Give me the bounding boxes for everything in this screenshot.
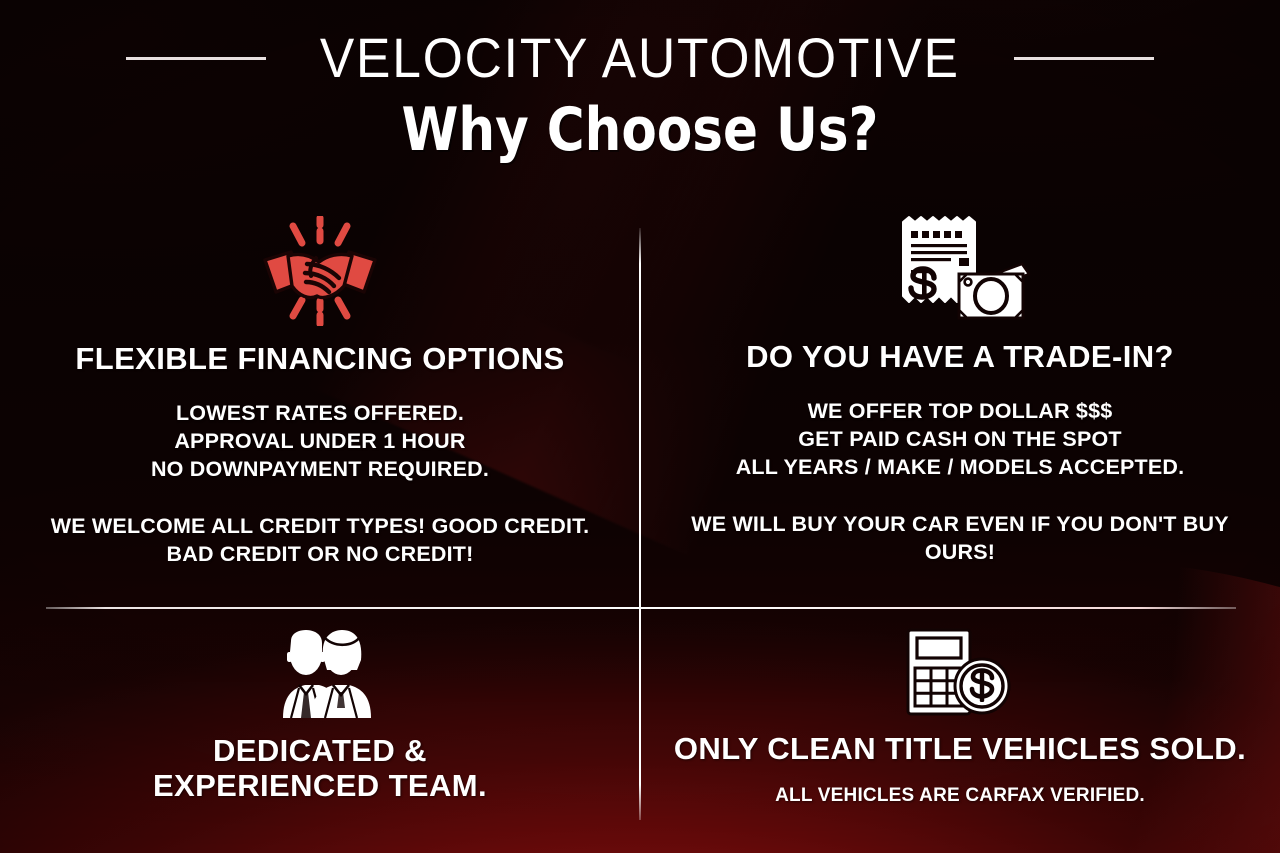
brand-row: VELOCITY AUTOMOTIVE bbox=[0, 30, 1280, 86]
feature-trade-in-body-secondary: WE WILL BUY YOUR CAR EVEN IF YOU DON'T B… bbox=[663, 510, 1258, 567]
banner-header: VELOCITY AUTOMOTIVE Why Choose Us? bbox=[0, 30, 1280, 160]
feature-team-title-line-2: EXPERIENCED TEAM. bbox=[153, 768, 487, 803]
feature-team-title-line-1: DEDICATED & bbox=[213, 733, 427, 768]
feature-financing: FLEXIBLE FINANCING OPTIONS LOWEST RATES … bbox=[0, 200, 640, 608]
feature-trade-in-line-3: ALL YEARS / MAKE / MODELS ACCEPTED. bbox=[736, 453, 1185, 481]
promo-banner: VELOCITY AUTOMOTIVE Why Choose Us? bbox=[0, 0, 1280, 853]
page-title: Why Choose Us? bbox=[90, 100, 1191, 160]
team-people-icon bbox=[261, 630, 379, 718]
feature-financing-line-2: APPROVAL UNDER 1 HOUR bbox=[151, 427, 489, 455]
handshake-icon bbox=[261, 216, 379, 326]
feature-financing-credit-line-1: WE WELCOME ALL CREDIT TYPES! GOOD CREDIT… bbox=[51, 512, 590, 540]
rule-left-decoration bbox=[126, 57, 266, 60]
feature-trade-in-line-1: WE OFFER TOP DOLLAR $$$ bbox=[736, 397, 1185, 425]
feature-financing-body: LOWEST RATES OFFERED. APPROVAL UNDER 1 H… bbox=[151, 399, 489, 484]
brand-title: VELOCITY AUTOMOTIVE bbox=[320, 30, 960, 86]
feature-trade-in-buy-line: WE WILL BUY YOUR CAR EVEN IF YOU DON'T B… bbox=[663, 510, 1258, 567]
feature-trade-in-title: DO YOU HAVE A TRADE-IN? bbox=[746, 340, 1174, 375]
feature-financing-credit-line-2: BAD CREDIT OR NO CREDIT! bbox=[51, 540, 590, 568]
feature-clean-title-heading: ONLY CLEAN TITLE VEHICLES SOLD. bbox=[674, 732, 1246, 767]
feature-trade-in: DO YOU HAVE A TRADE-IN? WE OFFER TOP DOL… bbox=[640, 200, 1280, 608]
calculator-dollar-icon bbox=[906, 628, 1014, 716]
feature-financing-body-secondary: WE WELCOME ALL CREDIT TYPES! GOOD CREDIT… bbox=[51, 512, 590, 569]
feature-team-title: DEDICATED & EXPERIENCED TEAM. bbox=[153, 734, 487, 803]
feature-clean-title-note: ALL VEHICLES ARE CARFAX VERIFIED. bbox=[775, 785, 1145, 807]
feature-grid: FLEXIBLE FINANCING OPTIONS LOWEST RATES … bbox=[0, 200, 1280, 853]
feature-financing-title: FLEXIBLE FINANCING OPTIONS bbox=[75, 342, 564, 377]
feature-clean-title: ONLY CLEAN TITLE VEHICLES SOLD. ALL VEHI… bbox=[640, 608, 1280, 853]
feature-trade-in-line-2: GET PAID CASH ON THE SPOT bbox=[736, 425, 1185, 453]
cash-receipt-icon bbox=[889, 212, 1031, 324]
feature-financing-line-3: NO DOWNPAYMENT REQUIRED. bbox=[151, 455, 489, 483]
feature-team: DEDICATED & EXPERIENCED TEAM. bbox=[0, 608, 640, 853]
feature-financing-line-1: LOWEST RATES OFFERED. bbox=[151, 399, 489, 427]
rule-right-decoration bbox=[1014, 57, 1154, 60]
feature-trade-in-body: WE OFFER TOP DOLLAR $$$ GET PAID CASH ON… bbox=[736, 397, 1185, 482]
